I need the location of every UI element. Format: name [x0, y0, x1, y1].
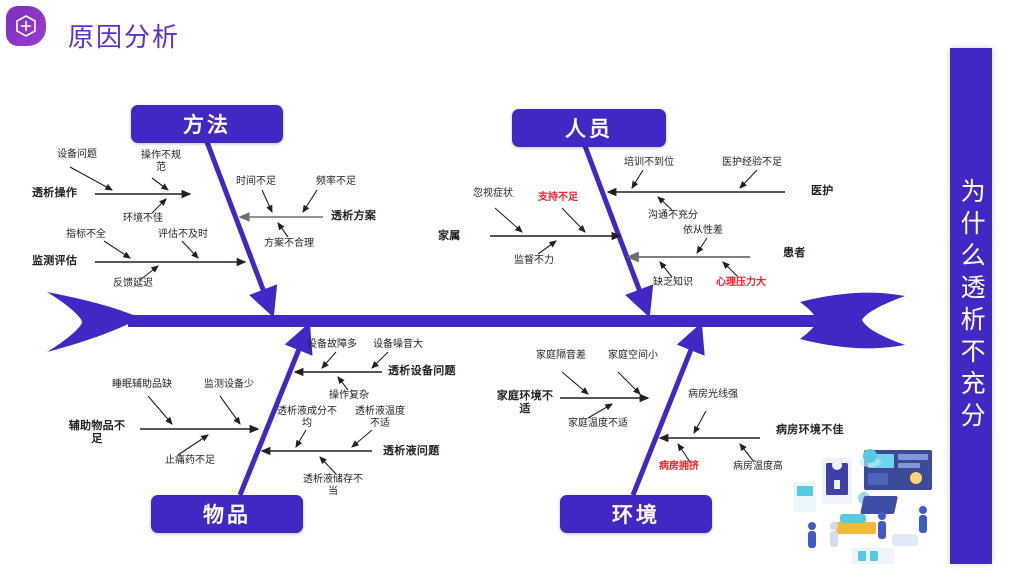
cause-arrow: [495, 208, 522, 232]
cause-label-unreasonable-plan: 方案不合理: [264, 238, 314, 250]
cause-arrow: [562, 372, 588, 394]
cause-label-lack-of-knowledge: 缺乏知识: [653, 277, 693, 289]
cause-label-feedback-delay: 反馈延迟: [113, 278, 153, 290]
subbranch-label-patient: 患者: [783, 247, 806, 260]
cause-label-high-ward-temperature: 病房温度高: [733, 461, 783, 473]
cause-arrow: [148, 396, 172, 424]
cause-arrow: [178, 435, 208, 455]
fishbone-spine: [128, 315, 828, 327]
cause-arrow: [278, 223, 288, 237]
cause-arrow: [723, 262, 738, 277]
cause-label-frequent-breakdowns: 设备故障多: [307, 339, 357, 351]
subbranch-label-dialysis-operation: 透析操作: [32, 187, 77, 200]
cause-label-improper-dialysate-storage: 透析液储存不当: [298, 474, 368, 497]
cause-label-loud-equipment-noise: 设备噪音大: [373, 339, 423, 351]
subbranch-label-auxiliary-supplies: 辅助物品不足: [62, 420, 132, 445]
isometric-hospital-illustration: [792, 430, 957, 576]
cause-label-small-home-space: 家庭空间小: [608, 350, 658, 362]
cause-arrow: [618, 372, 640, 394]
fish-tail: [47, 292, 140, 352]
subbranch-label-family: 家属: [438, 230, 461, 243]
cause-label-few-monitoring-devices: 监测设备少: [204, 379, 254, 391]
cause-arrow: [322, 352, 336, 368]
category-box-method[interactable]: 方法: [131, 105, 283, 143]
cause-label-insufficient-support: 支持不足: [538, 192, 578, 204]
slide-canvas: 原因分析: [0, 0, 1024, 576]
cause-arrow: [220, 396, 240, 424]
cause-label-poor-environment: 环境不佳: [123, 213, 163, 225]
subbranch-label-dialysate-problem: 透析液问题: [383, 445, 440, 458]
cause-arrow: [678, 444, 690, 462]
cause-label-insufficient-communication: 沟通不充分: [648, 210, 698, 222]
cause-arrow: [740, 170, 757, 188]
cause-label-psychological-pressure: 心理压力大: [716, 277, 766, 289]
cause-label-irregular-operation: 操作不规范: [133, 150, 189, 173]
cause-label-strong-ward-light: 病房光线强: [688, 389, 738, 401]
cause-arrow: [262, 190, 272, 212]
subbranch-label-medical-staff: 医护: [811, 185, 834, 198]
cause-arrow: [694, 411, 706, 433]
cause-arrow: [303, 190, 317, 212]
cause-label-untimely-evaluation: 评估不及时: [158, 229, 208, 241]
cause-label-complex-operation: 操作复杂: [329, 390, 369, 402]
cause-label-poor-home-soundproofing: 家庭隔音差: [536, 350, 586, 362]
category-box-environment[interactable]: 环境: [560, 495, 712, 533]
subbranch-label-monitoring-evaluation: 监测评估: [32, 255, 77, 268]
cause-label-poor-compliance: 依从性差: [683, 225, 723, 237]
cause-arrow: [338, 377, 348, 390]
cause-arrow: [372, 352, 388, 368]
cause-arrow: [152, 199, 166, 213]
cause-arrow: [658, 197, 672, 210]
cause-label-crowded-ward: 病房拥挤: [659, 461, 699, 473]
cause-arrow: [588, 404, 612, 418]
cause-label-inadequate-training: 培训不到位: [624, 157, 674, 169]
cause-label-poor-supervision: 监督不力: [514, 255, 554, 267]
cause-arrow: [152, 178, 168, 190]
cause-arrow: [296, 430, 306, 447]
cause-arrow: [660, 262, 672, 277]
subbranch-label-home-environment: 家庭环境不适: [491, 390, 559, 415]
subbranch-label-equipment-problem: 透析设备问题: [388, 365, 456, 378]
cause-arrow: [562, 208, 585, 232]
cause-arrow: [632, 170, 643, 188]
cause-label-incomplete-indicators: 指标不全: [66, 229, 106, 241]
cause-label-ignore-symptoms: 忽视症状: [473, 188, 513, 200]
cause-arrow: [538, 241, 556, 254]
cause-arrow: [182, 241, 198, 258]
cause-label-lack-of-experience: 医护经验不足: [722, 157, 782, 169]
cause-arrow: [104, 241, 130, 258]
cause-arrow: [320, 457, 336, 474]
category-box-people[interactable]: 人员: [512, 109, 666, 147]
cause-label-insufficient-frequency: 频率不足: [316, 176, 356, 188]
cause-arrow: [740, 444, 754, 462]
subbranch-label-dialysis-plan: 透析方案: [331, 210, 376, 223]
branch-line-method: [207, 142, 272, 313]
cause-label-insufficient-time: 时间不足: [236, 176, 276, 188]
cause-arrow: [697, 238, 707, 253]
problem-statement-text: 为什么透析不充分: [958, 178, 984, 434]
cause-label-dialysate-temperature: 透析液温度不适: [348, 406, 412, 429]
cause-label-lack-sleep-aids: 睡眠辅助品缺: [112, 379, 172, 391]
cause-label-equipment-issue: 设备问题: [57, 149, 97, 161]
category-box-materials[interactable]: 物品: [151, 495, 303, 533]
cause-label-home-temperature: 家庭温度不适: [568, 418, 628, 430]
cause-label-insufficient-painkillers: 止痛药不足: [165, 455, 215, 467]
cause-label-uneven-dialysate-composition: 透析液成分不均: [272, 406, 342, 429]
problem-statement-banner: 为什么透析不充分: [950, 48, 992, 564]
cause-arrow: [352, 430, 372, 447]
branch-line-people: [585, 146, 648, 313]
